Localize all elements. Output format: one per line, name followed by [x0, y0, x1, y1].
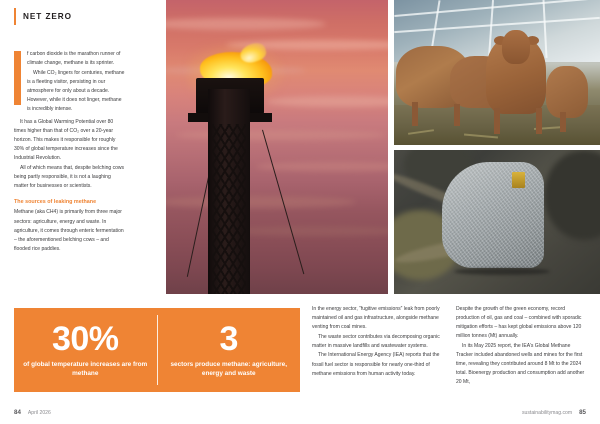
lattice-truss-shape [212, 124, 246, 294]
cow-leg-shape [536, 108, 542, 134]
article-right-column: Despite the growth of the green economy,… [456, 305, 586, 388]
article-paragraph: It has a Global Warming Potential over 8… [14, 118, 126, 163]
page-number-right: 85 [579, 409, 586, 416]
cow-leg-shape [454, 104, 460, 126]
article-paragraph: In its May 2025 report, the IEA’s Global… [456, 342, 586, 387]
website-url[interactable]: sustainabilitymag.com [522, 410, 572, 416]
article-paragraph: Methane (aka CH4) is primarily from thre… [14, 208, 126, 253]
cow-head-shape [502, 30, 530, 64]
article-paragraph: While CO₂ lingers for centuries, methane… [27, 69, 126, 114]
article-subheading: The sources of leaking methane [14, 198, 126, 207]
cow-leg-shape [560, 112, 566, 132]
page-number-left: 84 [14, 409, 21, 416]
issue-date: April 2026 [28, 410, 51, 416]
dropcap-bar-icon [14, 51, 21, 105]
article-left-column: f carbon dioxide is the marathon runner … [14, 50, 126, 254]
cow-leg-shape [494, 108, 500, 134]
article-middle-column: In the energy sector, “fugitive emission… [312, 305, 440, 379]
magazine-spread: NET ZERO f carbon dioxide is the maratho… [0, 0, 600, 424]
section-kicker: NET ZERO [14, 6, 72, 26]
article-paragraph: All of which means that, despite belchin… [14, 164, 126, 191]
article-paragraph: f carbon dioxide is the marathon runner … [27, 50, 126, 68]
article-paragraph: The International Energy Agency (IEA) re… [312, 351, 440, 378]
bulldozer-shape [512, 172, 525, 188]
stat-card: 3 sectors produce methane: agriculture, … [158, 308, 301, 392]
stat-number: 30% [52, 322, 119, 356]
dirt-track-shape [454, 268, 550, 275]
footer-left: 84 April 2026 [14, 409, 51, 416]
article-paragraph: The waste sector contributes via decompo… [312, 333, 440, 351]
cloud-shape [166, 196, 356, 208]
photo-landfill [394, 150, 600, 294]
stat-card: 30% of global temperature increases are … [14, 308, 157, 392]
dropcap-paragraph-block: f carbon dioxide is the marathon runner … [14, 50, 126, 118]
stat-caption: of global temperature increases are from… [22, 361, 149, 378]
kicker-label: NET ZERO [23, 12, 72, 21]
cow-leg-shape [412, 102, 418, 126]
statistics-band: 30% of global temperature increases are … [14, 308, 300, 392]
stat-number: 3 [220, 322, 238, 356]
photo-cattle [394, 0, 600, 145]
stat-caption: sectors produce methane: agriculture, en… [166, 361, 293, 378]
cow-shape [546, 66, 588, 118]
photo-gas-flare [166, 0, 388, 294]
article-paragraph: In the energy sector, “fugitive emission… [312, 305, 440, 332]
kicker-rule-icon [14, 8, 16, 25]
article-paragraph: Despite the growth of the green economy,… [456, 305, 586, 341]
footer-right: sustainabilitymag.com 85 [522, 409, 586, 416]
waste-mound-shape [442, 162, 544, 268]
